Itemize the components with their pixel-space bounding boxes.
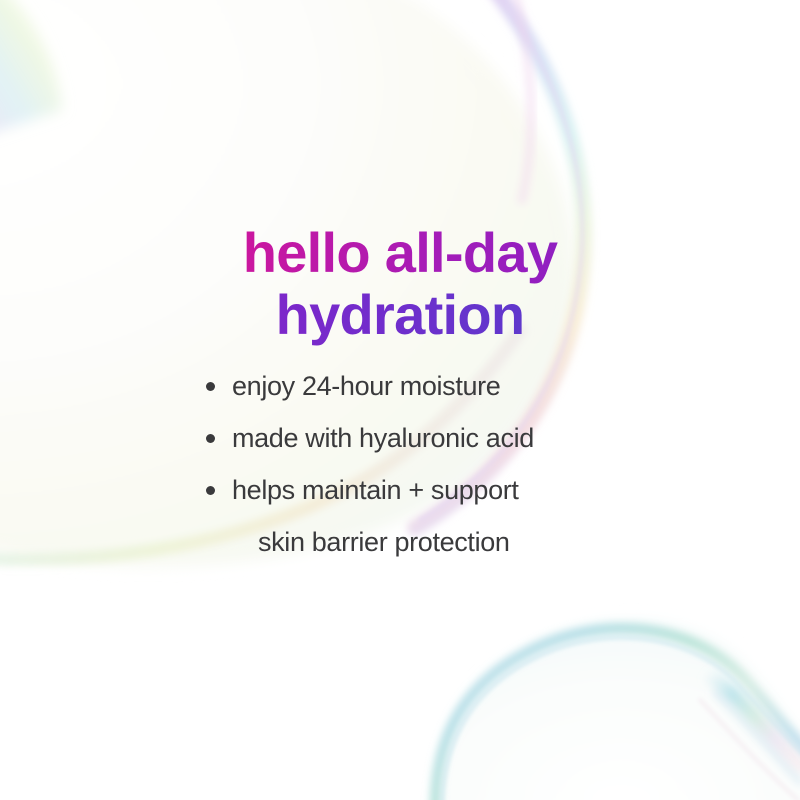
bullet-dot-icon <box>206 382 215 391</box>
list-item-label-continuation: skin barrier protection <box>232 516 726 568</box>
headline-line-2: hydration <box>0 284 800 346</box>
list-item-label: helps maintain + support <box>232 475 519 505</box>
bullet-dot-icon <box>206 434 215 443</box>
list-item-label: enjoy 24-hour moisture <box>232 371 500 401</box>
headline-line-1: hello all-day <box>0 222 800 284</box>
page-title: hello all-day hydration <box>0 222 800 346</box>
list-item: enjoy 24-hour moisture <box>206 360 726 412</box>
bullet-dot-icon <box>206 486 215 495</box>
list-item: helps maintain + support skin barrier pr… <box>206 464 726 568</box>
benefits-list: enjoy 24-hour moisture made with hyaluro… <box>206 360 726 568</box>
list-item: made with hyaluronic acid <box>206 412 726 464</box>
promo-graphic: hello all-day hydration enjoy 24-hour mo… <box>0 0 800 800</box>
list-item-label: made with hyaluronic acid <box>232 423 534 453</box>
content-layer: hello all-day hydration enjoy 24-hour mo… <box>0 0 800 800</box>
